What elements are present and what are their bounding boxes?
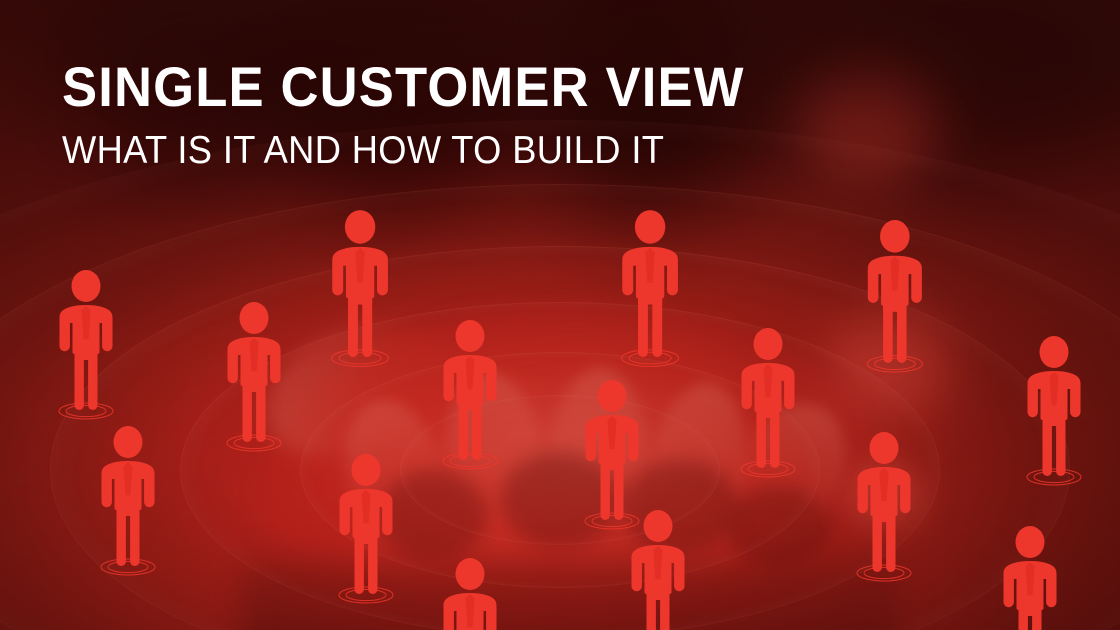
figure-head xyxy=(72,270,101,302)
figure-floor-ring xyxy=(339,587,393,603)
figure-hips xyxy=(355,532,378,544)
figure-head xyxy=(456,558,485,590)
person-figure-5 xyxy=(212,300,296,452)
figure-head xyxy=(240,302,269,334)
figure-hips xyxy=(757,406,780,418)
figure-head xyxy=(1016,526,1045,558)
figure-head xyxy=(870,432,899,464)
page-subtitle: WHAT IS IT AND HOW TO BUILD IT xyxy=(62,130,737,171)
headline-block: SINGLE CUSTOMER VIEW WHAT IS IT AND HOW … xyxy=(62,58,788,172)
figure-floor-ring xyxy=(332,350,389,367)
figure-hips xyxy=(1019,604,1042,616)
figure-head xyxy=(1040,336,1069,368)
banner: SINGLE CUSTOMER VIEW WHAT IS IT AND HOW … xyxy=(0,0,1120,630)
person-figure-3 xyxy=(606,208,694,368)
person-figure-15 xyxy=(428,556,512,630)
figure-hips xyxy=(1043,414,1066,426)
figure-floor-ring xyxy=(101,559,155,575)
figure-head xyxy=(345,210,375,244)
person-figure-11 xyxy=(324,452,408,604)
person-figure-1 xyxy=(44,268,128,420)
figure-floor-ring xyxy=(622,350,679,367)
figure-head xyxy=(644,510,673,542)
person-figure-12 xyxy=(842,430,926,582)
figure-head xyxy=(352,454,381,486)
figure-head xyxy=(754,328,783,360)
figure-hips xyxy=(601,458,624,470)
person-figure-8 xyxy=(1012,334,1096,486)
figure-hips xyxy=(459,398,482,410)
figure-head xyxy=(114,426,143,458)
figure-floor-ring xyxy=(227,435,281,451)
person-figure-2 xyxy=(316,208,404,368)
person-figure-14 xyxy=(988,524,1072,630)
figure-hips xyxy=(647,588,670,600)
figure-hips xyxy=(117,504,140,516)
figure-head xyxy=(598,380,627,412)
person-figure-6 xyxy=(428,318,512,470)
person-figure-13 xyxy=(616,508,700,630)
figure-hips xyxy=(638,292,662,305)
person-figure-7 xyxy=(726,326,810,478)
figure-hips xyxy=(348,292,372,305)
page-title: SINGLE CUSTOMER VIEW xyxy=(62,58,745,116)
figure-floor-ring xyxy=(857,565,911,581)
figure-hips xyxy=(75,348,98,360)
figure-hips xyxy=(873,510,896,522)
figure-floor-ring xyxy=(1027,469,1081,485)
figure-floor-ring xyxy=(59,403,113,419)
figure-floor-ring xyxy=(443,453,497,469)
figure-head xyxy=(880,220,910,253)
figure-hips xyxy=(243,380,266,392)
figure-floor-ring xyxy=(867,356,922,372)
person-figure-4 xyxy=(852,218,938,373)
figure-floor-ring xyxy=(741,461,795,477)
figure-head xyxy=(456,320,485,352)
person-figure-10 xyxy=(86,424,170,576)
figure-head xyxy=(635,210,665,244)
figure-hips xyxy=(883,300,906,312)
